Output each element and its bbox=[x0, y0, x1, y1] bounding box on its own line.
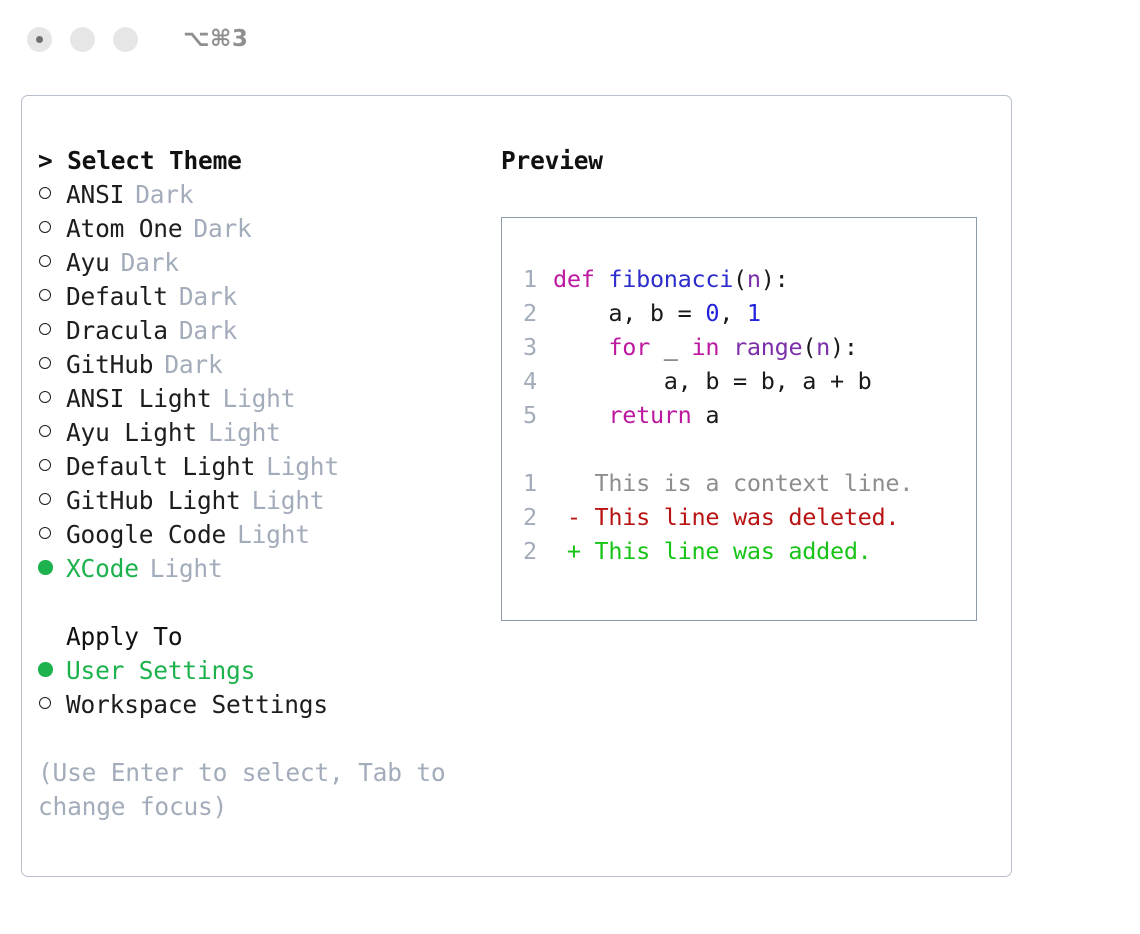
theme-option-name: ANSI bbox=[66, 178, 124, 212]
theme-option-variant: Dark bbox=[164, 348, 222, 382]
preview-box: 1def fibonacci(n):2 a, b = 0, 13 for _ i… bbox=[501, 217, 977, 621]
hint-spacer bbox=[38, 722, 490, 756]
theme-option-name: XCode bbox=[66, 552, 139, 586]
preview-title: Preview bbox=[501, 144, 991, 178]
theme-option-variant: Dark bbox=[121, 246, 179, 280]
theme-option-variant: Light bbox=[237, 518, 310, 552]
code-line: 4 a, b = b, a + b bbox=[523, 364, 976, 398]
code-token-plain: ): bbox=[830, 333, 858, 361]
code-token-plain bbox=[719, 333, 733, 361]
code-token-variable: n bbox=[816, 333, 830, 361]
diff-line-added: 2 + This line was added. bbox=[523, 534, 976, 568]
theme-option-variant: Dark bbox=[179, 314, 237, 348]
preview-column: Preview 1def fibonacci(n):2 a, b = 0, 13… bbox=[501, 144, 991, 621]
theme-option-name: ANSI Light bbox=[66, 382, 212, 416]
theme-option-variant: Light bbox=[266, 450, 339, 484]
theme-option-name: Atom One bbox=[66, 212, 182, 246]
code-line: 3 for _ in range(n): bbox=[523, 330, 976, 364]
panel-content: > Select Theme ANSIDarkAtom OneDarkAyuDa… bbox=[22, 96, 1011, 876]
theme-option-atom-one[interactable]: Atom OneDark bbox=[38, 212, 490, 246]
theme-option-variant: Light bbox=[252, 484, 325, 518]
theme-option-name: Google Code bbox=[66, 518, 226, 552]
traffic-light-group bbox=[27, 27, 138, 52]
app-root: ⌥⌘3 > Select Theme ANSIDarkAtom OneDarkA… bbox=[0, 0, 1140, 934]
keyboard-hint-text: (Use Enter to select, Tab to change focu… bbox=[38, 756, 458, 824]
theme-option-name: Default Light bbox=[66, 450, 255, 484]
code-line: 2 a, b = 0, 1 bbox=[523, 296, 976, 330]
code-token-plain bbox=[553, 333, 608, 361]
main-panel: > Select Theme ANSIDarkAtom OneDarkAyuDa… bbox=[21, 95, 1012, 877]
window-titlebar: ⌥⌘3 bbox=[0, 0, 1140, 78]
diff-line-number: 1 bbox=[523, 466, 553, 500]
apply-to-option-name: Workspace Settings bbox=[66, 688, 328, 722]
window-close-dot-icon[interactable] bbox=[27, 27, 52, 52]
theme-option-ayu-light[interactable]: Ayu LightLight bbox=[38, 416, 490, 450]
code-token-keyword: return bbox=[608, 401, 691, 429]
code-token-plain: ( bbox=[733, 265, 747, 293]
theme-option-name: GitHub Light bbox=[66, 484, 241, 518]
apply-to-label: Apply To bbox=[38, 620, 490, 654]
code-line-number: 5 bbox=[523, 398, 553, 432]
code-line: 1def fibonacci(n): bbox=[523, 262, 976, 296]
diff-line-number: 2 bbox=[523, 534, 553, 568]
theme-option-name: Ayu Light bbox=[66, 416, 197, 450]
apply-to-option-workspace-settings[interactable]: Workspace Settings bbox=[38, 688, 490, 722]
theme-option-name: Default bbox=[66, 280, 168, 314]
apply-to-option-name: User Settings bbox=[66, 654, 255, 688]
code-token-keyword: def bbox=[553, 265, 608, 293]
active-indicator-dot-icon bbox=[36, 36, 43, 43]
code-token-plain: _ bbox=[650, 333, 692, 361]
diff-text: This is a context line. bbox=[581, 469, 913, 497]
diff-line-number: 2 bbox=[523, 500, 553, 534]
theme-option-dracula[interactable]: DraculaDark bbox=[38, 314, 490, 348]
diff-line-deleted: 2 - This line was deleted. bbox=[523, 500, 976, 534]
select-theme-header: > Select Theme bbox=[38, 144, 490, 178]
theme-option-name: Dracula bbox=[66, 314, 168, 348]
code-line-number: 1 bbox=[523, 262, 553, 296]
diff-sign bbox=[553, 469, 581, 497]
code-line: 5 return a bbox=[523, 398, 976, 432]
list-spacer bbox=[38, 586, 490, 620]
code-token-keyword: for bbox=[608, 333, 650, 361]
prompt-caret: > bbox=[38, 146, 67, 175]
theme-option-list: ANSIDarkAtom OneDarkAyuDarkDefaultDarkDr… bbox=[38, 178, 490, 586]
code-diff-gap bbox=[523, 432, 976, 466]
theme-option-name: GitHub bbox=[66, 348, 153, 382]
diff-sample: 1 This is a context line.2 - This line w… bbox=[523, 466, 976, 568]
window-zoom-dot-icon[interactable] bbox=[113, 27, 138, 52]
code-token-function: fibonacci bbox=[608, 265, 733, 293]
code-token-plain: a, b = bbox=[553, 299, 705, 327]
theme-option-ansi[interactable]: ANSIDark bbox=[38, 178, 490, 212]
theme-option-variant: Dark bbox=[179, 280, 237, 314]
theme-option-default-light[interactable]: Default LightLight bbox=[38, 450, 490, 484]
theme-option-variant: Dark bbox=[193, 212, 251, 246]
theme-option-github[interactable]: GitHubDark bbox=[38, 348, 490, 382]
code-token-number: 0 bbox=[705, 299, 719, 327]
theme-selection-column: > Select Theme ANSIDarkAtom OneDarkAyuDa… bbox=[38, 144, 490, 824]
theme-option-variant: Light bbox=[150, 552, 223, 586]
code-line-number: 2 bbox=[523, 296, 553, 330]
code-line-number: 4 bbox=[523, 364, 553, 398]
diff-sign: + bbox=[553, 537, 581, 565]
code-token-plain bbox=[553, 401, 608, 429]
theme-option-ayu[interactable]: AyuDark bbox=[38, 246, 490, 280]
theme-option-name: Ayu bbox=[66, 246, 110, 280]
apply-to-option-list: User SettingsWorkspace Settings bbox=[38, 654, 490, 722]
theme-option-google-code[interactable]: Google CodeLight bbox=[38, 518, 490, 552]
code-token-variable: n bbox=[747, 265, 761, 293]
code-token-plain: a bbox=[692, 401, 720, 429]
diff-text: This line was deleted. bbox=[581, 503, 900, 531]
code-token-number: 1 bbox=[747, 299, 761, 327]
code-token-plain: a, b = b, a + b bbox=[553, 367, 872, 395]
select-theme-label: Select Theme bbox=[67, 146, 242, 175]
theme-option-variant: Dark bbox=[135, 178, 193, 212]
theme-option-default[interactable]: DefaultDark bbox=[38, 280, 490, 314]
apply-to-option-user-settings[interactable]: User Settings bbox=[38, 654, 490, 688]
theme-option-xcode[interactable]: XCodeLight bbox=[38, 552, 490, 586]
code-line-number: 3 bbox=[523, 330, 553, 364]
code-token-plain: ( bbox=[802, 333, 816, 361]
diff-sign: - bbox=[553, 503, 581, 531]
code-token-plain: ): bbox=[761, 265, 789, 293]
diff-line-context: 1 This is a context line. bbox=[523, 466, 976, 500]
window-minimize-dot-icon[interactable] bbox=[70, 27, 95, 52]
keyboard-shortcut-label: ⌥⌘3 bbox=[183, 26, 248, 52]
diff-text: This line was added. bbox=[581, 537, 872, 565]
theme-option-github-light[interactable]: GitHub LightLight bbox=[38, 484, 490, 518]
code-token-plain: , bbox=[719, 299, 747, 327]
theme-option-variant: Light bbox=[208, 416, 281, 450]
code-token-class: range bbox=[733, 333, 802, 361]
code-token-keyword: in bbox=[692, 333, 720, 361]
code-sample: 1def fibonacci(n):2 a, b = 0, 13 for _ i… bbox=[523, 262, 976, 432]
theme-option-variant: Light bbox=[223, 382, 296, 416]
theme-option-ansi-light[interactable]: ANSI LightLight bbox=[38, 382, 490, 416]
